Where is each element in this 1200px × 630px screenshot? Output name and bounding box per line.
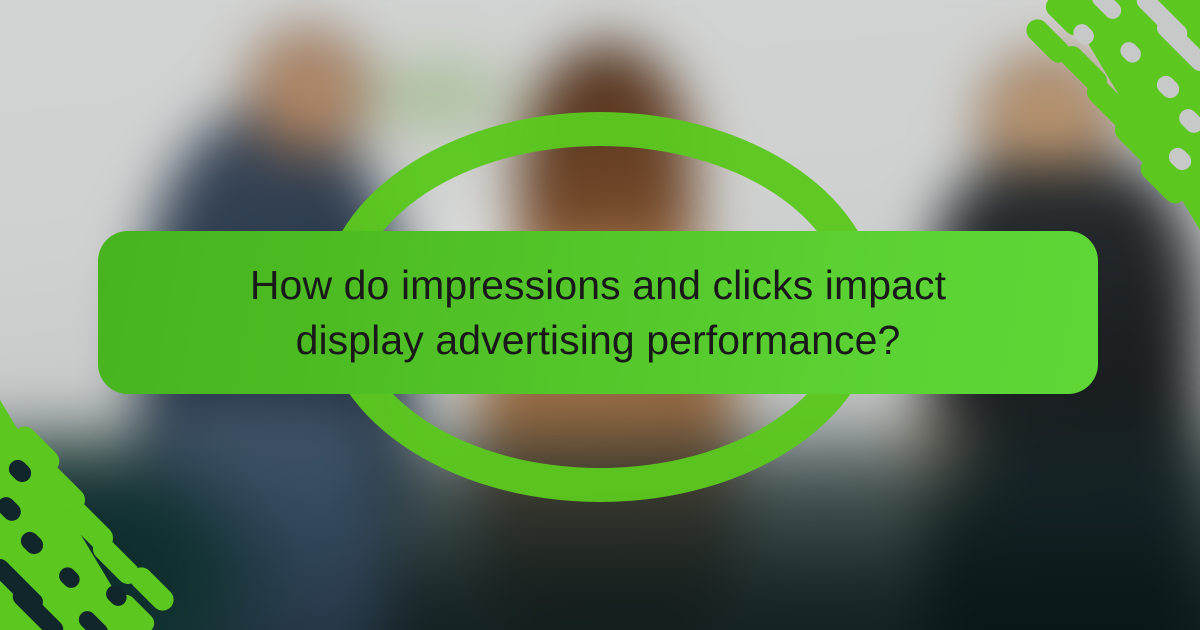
question-text: How do impressions and clicks impact dis… [218, 258, 978, 366]
share-card-canvas: How do impressions and clicks impact dis… [0, 0, 1200, 630]
background-person-left-head [247, 29, 369, 157]
question-banner: How do impressions and clicks impact dis… [98, 231, 1098, 394]
